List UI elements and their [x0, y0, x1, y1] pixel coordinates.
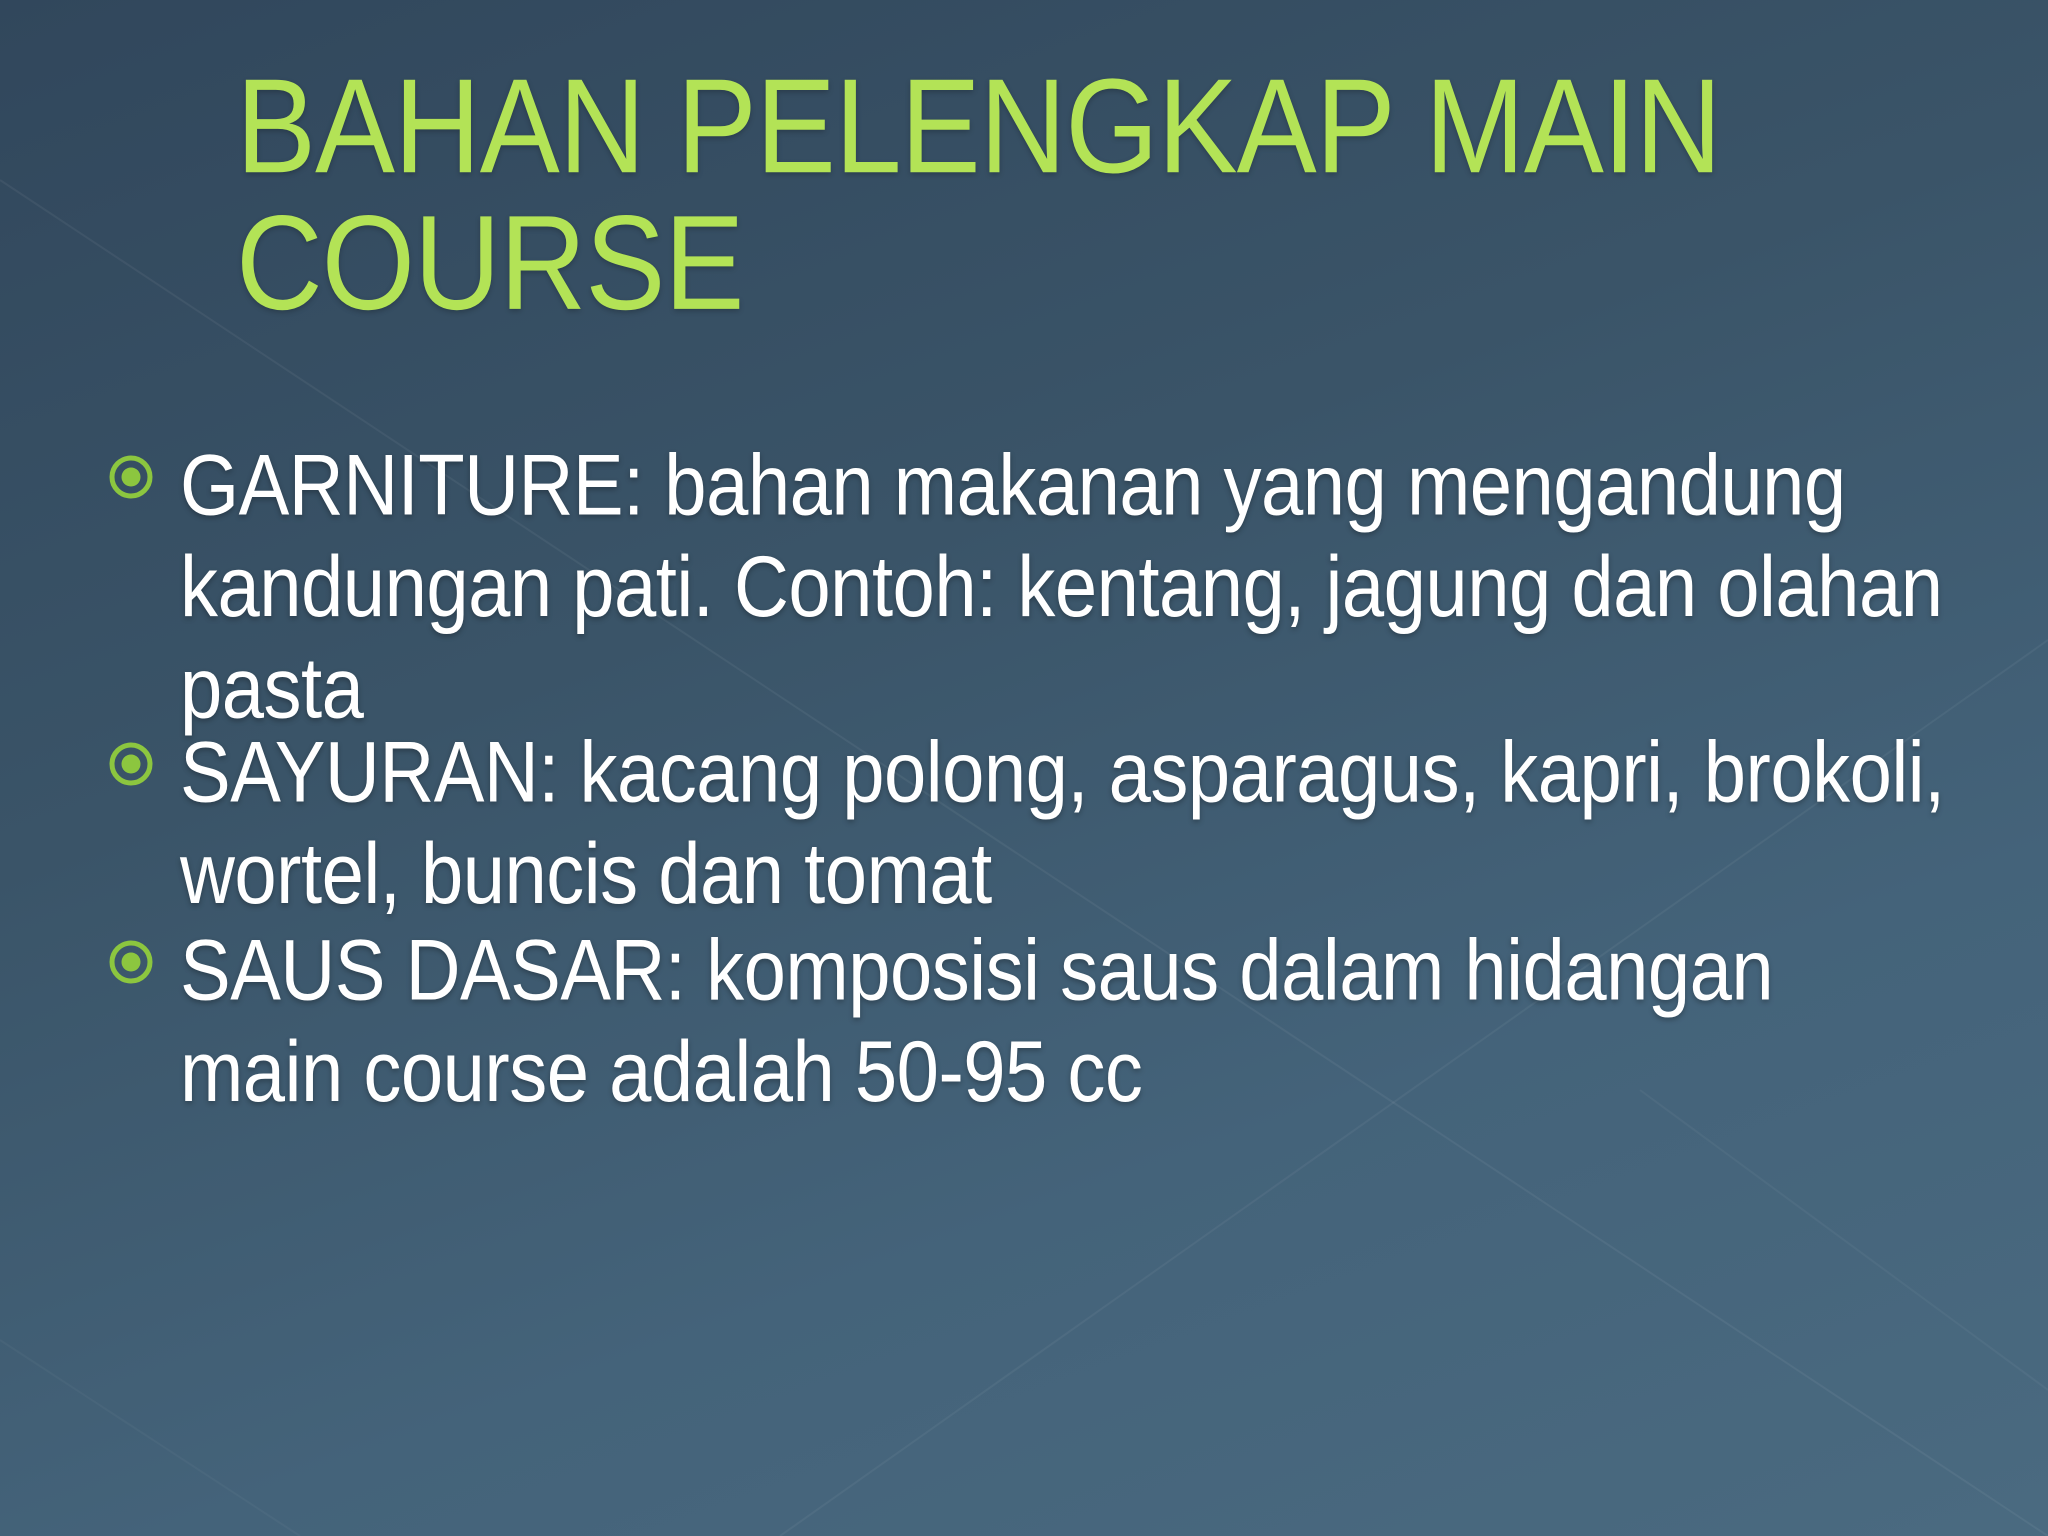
slide-title-block: BAHAN PELENGKAP MAIN COURSE [236, 58, 1796, 303]
list-item-text: GARNITURE: bahan makanan yang mengandung… [180, 436, 1988, 740]
list-item-text: SAYURAN: kacang polong, asparagus, kapri… [180, 723, 1988, 926]
list-item: SAYURAN: kacang polong, asparagus, kapri… [108, 723, 1988, 901]
slide-title: BAHAN PELENGKAP MAIN COURSE [236, 58, 1796, 332]
presentation-slide: BAHAN PELENGKAP MAIN COURSE GARNITURE: b… [0, 0, 2048, 1536]
list-item-text: SAUS DASAR: komposisi saus dalam hidanga… [180, 921, 1988, 1124]
slide-body-list: GARNITURE: bahan makanan yang mengandung… [108, 436, 1988, 1118]
list-item: GARNITURE: bahan makanan yang mengandung… [108, 436, 1988, 703]
list-item: SAUS DASAR: komposisi saus dalam hidanga… [108, 921, 1988, 1099]
target-bullet-icon [108, 921, 180, 985]
target-bullet-icon [108, 723, 180, 787]
target-bullet-icon [108, 436, 180, 500]
